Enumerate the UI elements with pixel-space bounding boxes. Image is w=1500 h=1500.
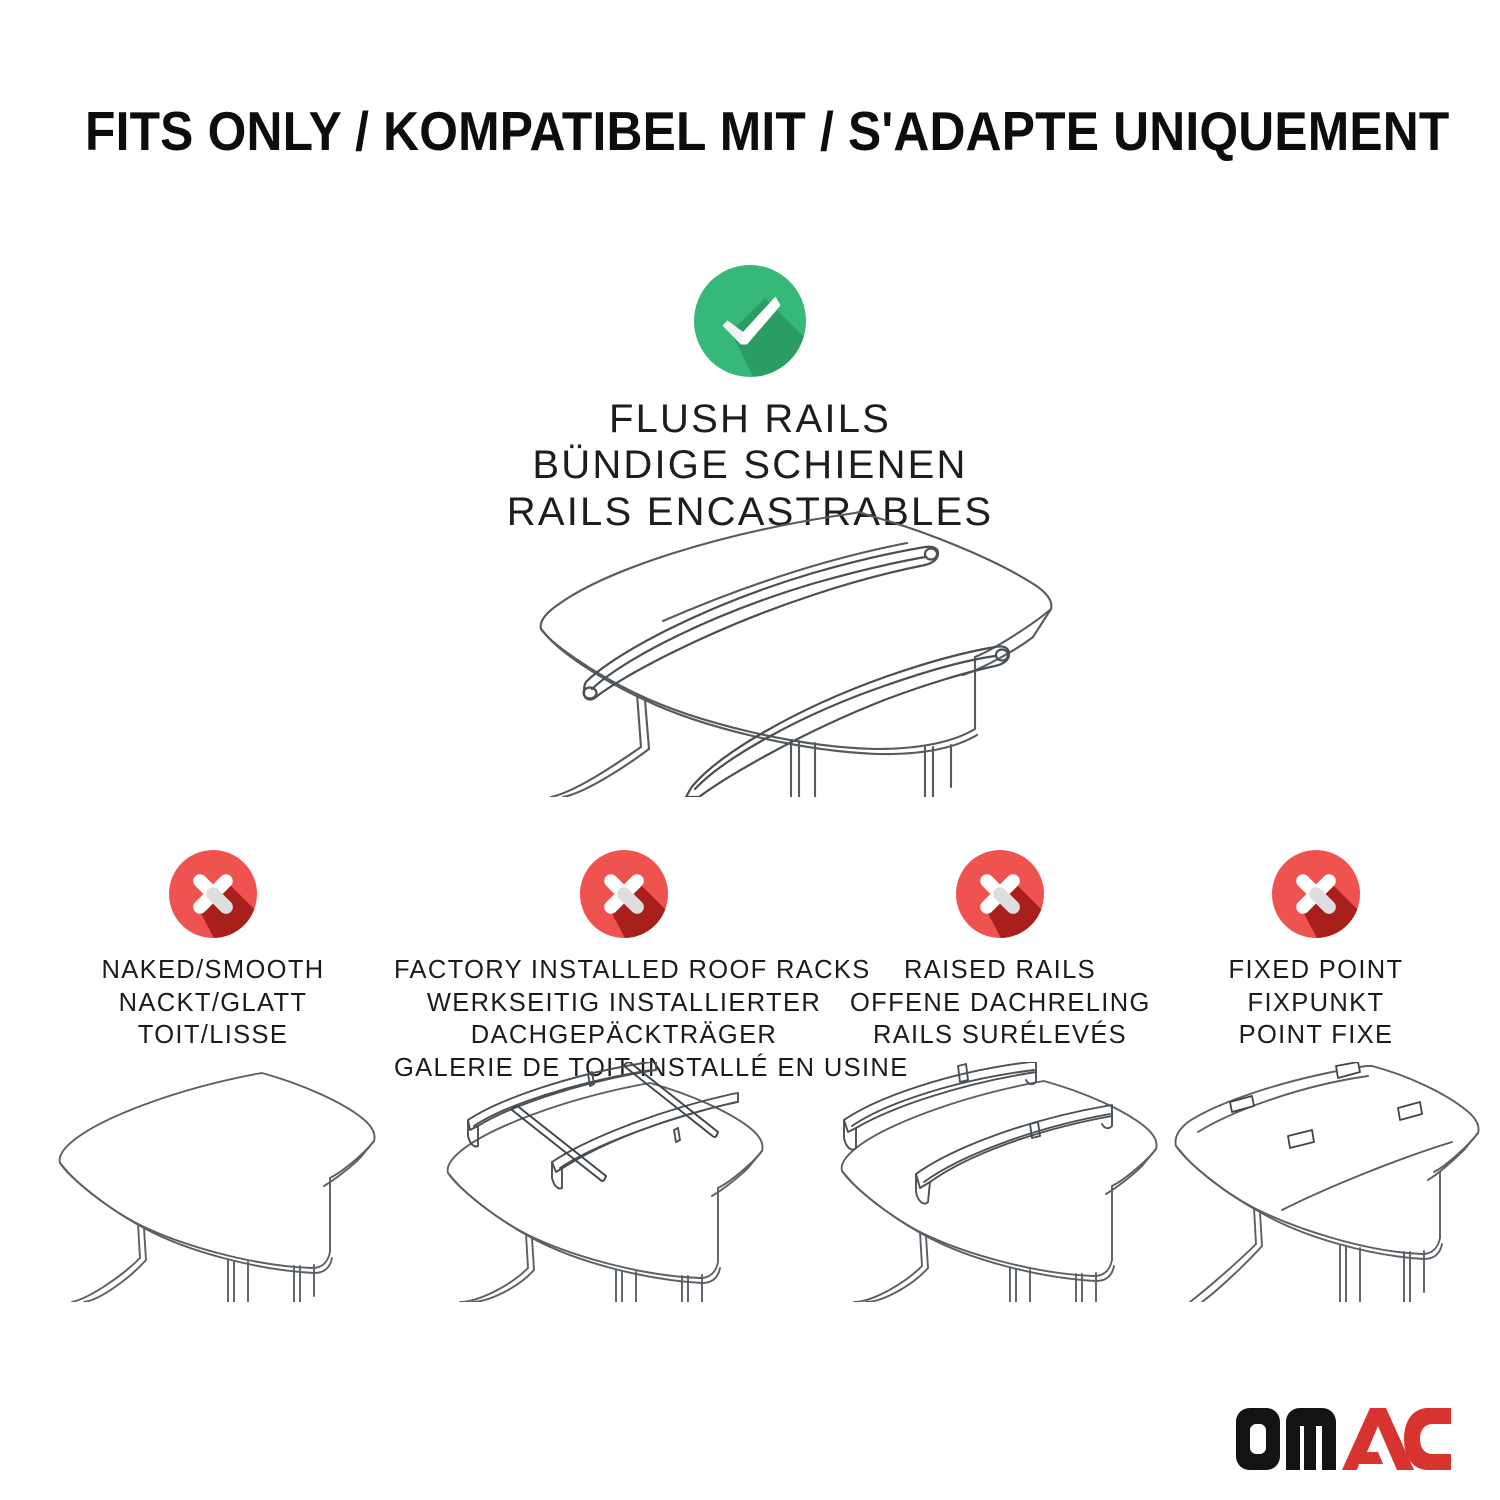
x-circle-icon [578,848,670,940]
car-roof-factory-racks-illustration [420,1062,832,1302]
label-line-3: TOIT/LISSE [33,1019,393,1052]
incompatible-labels: FIXED POINT FIXPUNKT POINT FIXE [1166,954,1466,1052]
logo-letter-c [1404,1408,1451,1470]
incompatible-item-naked-smooth: NAKED/SMOOTH NACKT/GLATT TOIT/LISSE [33,848,393,1052]
label-line-1: FACTORY INSTALLED ROOF RACKS [394,954,854,987]
x-circle-icon [954,848,1046,940]
incompatible-labels: RAISED RAILS OFFENE DACHRELING RAILS SUR… [850,954,1150,1052]
label-line-3: DACHGEPÄCKTRÄGER [394,1019,854,1052]
car-roof-fixed-point-illustration [1170,1062,1500,1302]
car-roof-flush-rails-illustration [455,497,1065,797]
car-roof-raised-rails-illustration [818,1062,1208,1302]
page-title: FITS ONLY / KOMPATIBEL MIT / S'ADAPTE UN… [85,104,1450,159]
incompatible-item-fixed-point: FIXED POINT FIXPUNKT POINT FIXE [1166,848,1466,1052]
label-line-3: POINT FIXE [1166,1019,1466,1052]
label-line-3: RAILS SURÉLEVÉS [850,1019,1150,1052]
logo-letter-a [1342,1408,1414,1470]
compatible-label-en: FLUSH RAILS [0,396,1500,442]
omac-logo [1236,1408,1451,1470]
car-roof-naked-smooth-illustration [42,1062,432,1302]
label-line-1: FIXED POINT [1166,954,1466,987]
incompatible-item-factory-racks: FACTORY INSTALLED ROOF RACKS WERKSEITIG … [394,848,854,1085]
logo-letter-m [1286,1408,1336,1470]
check-circle-icon [691,262,809,380]
compatible-label-de: BÜNDIGE SCHIENEN [0,442,1500,488]
incompatible-item-raised-rails: RAISED RAILS OFFENE DACHRELING RAILS SUR… [850,848,1150,1052]
label-line-1: RAISED RAILS [850,954,1150,987]
label-line-1: NAKED/SMOOTH [33,954,393,987]
label-line-2: FIXPUNKT [1166,987,1466,1020]
label-line-2: WERKSEITIG INSTALLIERTER [394,987,854,1020]
label-line-2: OFFENE DACHRELING [850,987,1150,1020]
x-circle-icon [167,848,259,940]
x-circle-icon [1270,848,1362,940]
logo-letter-o [1236,1408,1280,1470]
compatible-section: FLUSH RAILS BÜNDIGE SCHIENEN RAILS ENCAS… [0,262,1500,535]
label-line-2: NACKT/GLATT [33,987,393,1020]
incompatible-labels: NAKED/SMOOTH NACKT/GLATT TOIT/LISSE [33,954,393,1052]
